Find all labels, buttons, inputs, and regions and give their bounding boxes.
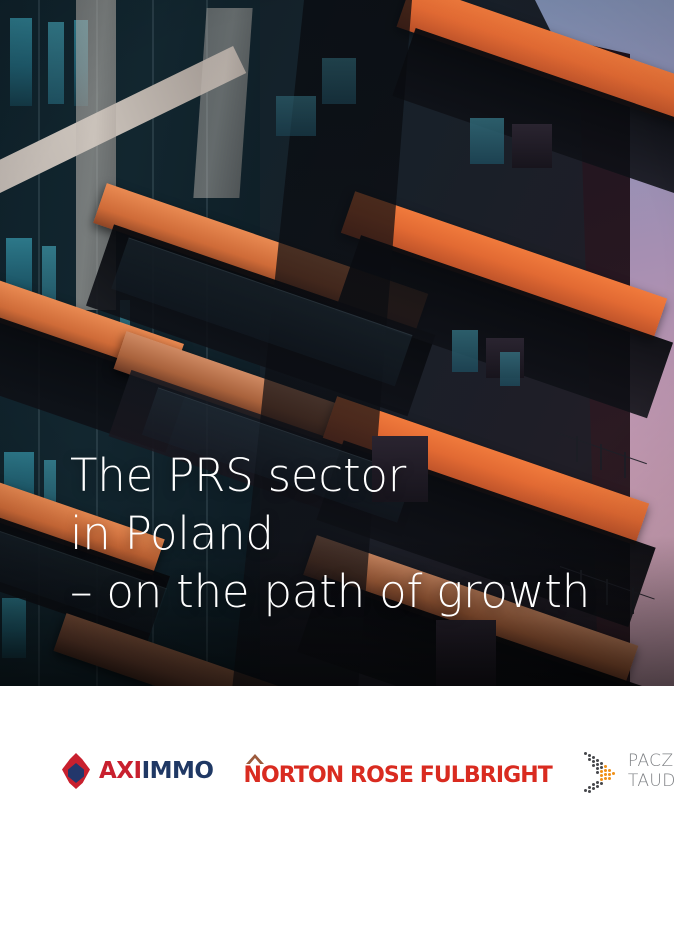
axi-immo-word-immo: IMMO bbox=[142, 758, 214, 784]
norton-rose-caret-icon bbox=[246, 754, 264, 764]
railing-post bbox=[632, 588, 634, 614]
norton-rose-wordmark: NORTON ROSE FULBRIGHT bbox=[243, 763, 551, 788]
logo-row: AXIIMMO NORTON ROSE FULBRIGHT bbox=[62, 748, 674, 794]
logo-bar: AXIIMMO NORTON ROSE FULBRIGHT bbox=[0, 686, 674, 945]
window-pane bbox=[322, 58, 356, 104]
window-pane bbox=[512, 124, 552, 168]
axi-immo-wordmark: AXIIMMO bbox=[99, 758, 213, 784]
paczuski-taudul-line-1: PACZUSKI bbox=[628, 751, 674, 771]
window-pane bbox=[436, 620, 496, 686]
cover-page: The PRS sector in Poland – on the path o… bbox=[0, 0, 674, 945]
axi-immo-diamond-icon bbox=[62, 753, 90, 789]
window-pane bbox=[470, 118, 504, 164]
paczuski-taudul-wordmark: PACZUSKI TAUDUL bbox=[628, 751, 674, 791]
paczuski-taudul-chevron-icon bbox=[582, 748, 618, 794]
railing-post bbox=[580, 570, 582, 596]
axi-immo-word-axi: AXI bbox=[99, 758, 142, 784]
window-pane bbox=[372, 436, 428, 502]
paczuski-taudul-line-2: TAUDUL bbox=[628, 771, 674, 791]
window-pane bbox=[500, 352, 520, 386]
window-pane bbox=[452, 330, 478, 372]
logo-axi-immo[interactable]: AXIIMMO bbox=[62, 753, 213, 789]
cover-photograph: The PRS sector in Poland – on the path o… bbox=[0, 0, 674, 686]
window-strip bbox=[2, 598, 26, 658]
window-strip bbox=[48, 22, 64, 104]
logo-paczuski-taudul[interactable]: PACZUSKI TAUDUL bbox=[582, 748, 674, 794]
railing-post bbox=[600, 444, 602, 470]
railing-post bbox=[606, 579, 608, 605]
window-strip bbox=[10, 18, 32, 106]
railing-post bbox=[624, 452, 626, 478]
railing-post bbox=[576, 436, 578, 462]
logo-norton-rose-fulbright[interactable]: NORTON ROSE FULBRIGHT bbox=[243, 754, 551, 788]
window-pane bbox=[276, 96, 316, 136]
